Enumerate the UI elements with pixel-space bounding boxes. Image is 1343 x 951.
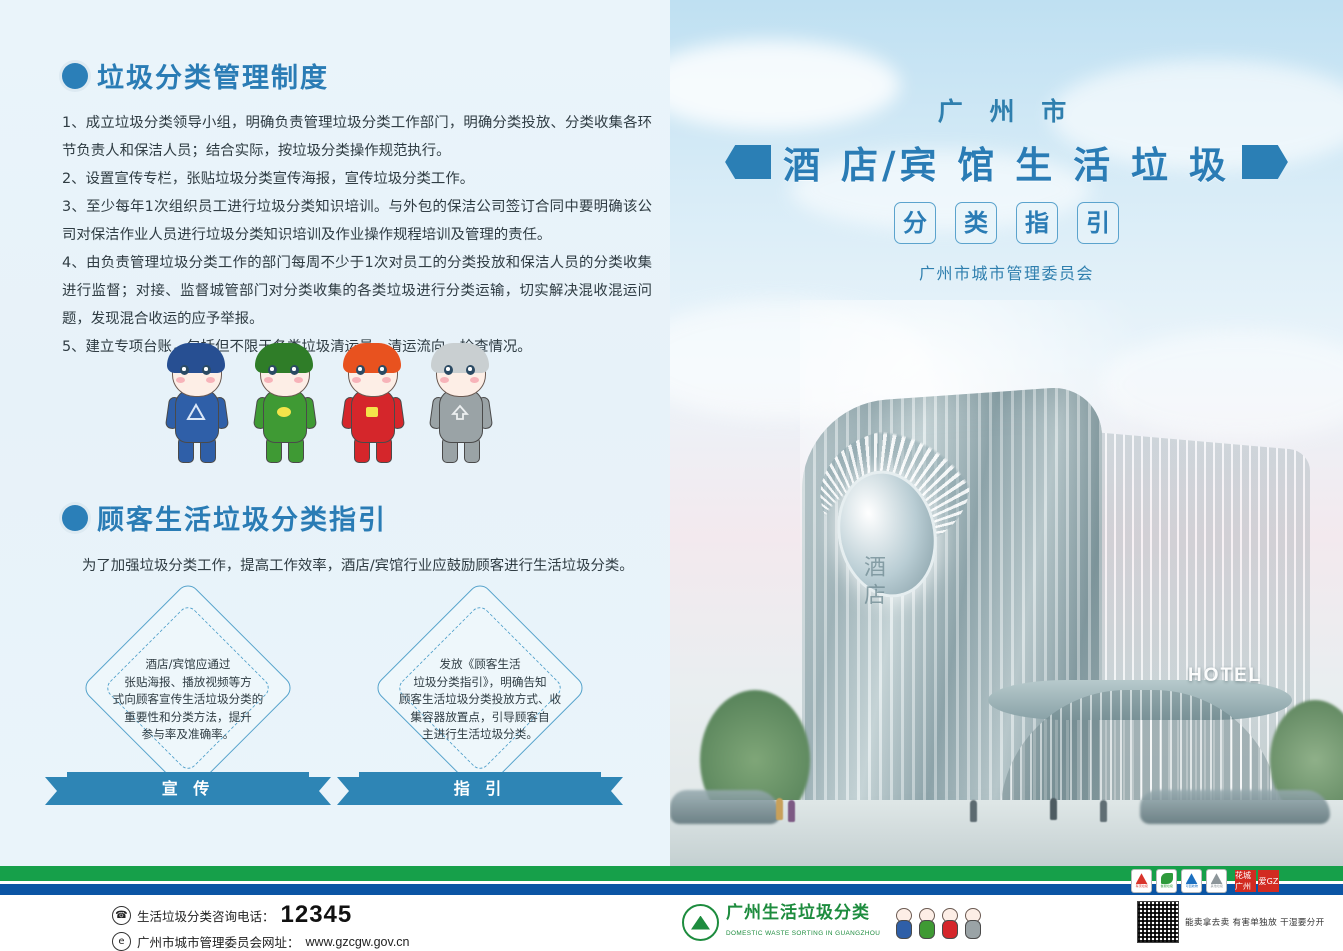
chevron-right-icon xyxy=(1242,145,1288,179)
guidance-card-publicity: 酒店/宾馆应通过 张贴海报、播放视频等方 式向顾客宣传生活垃圾分类的 重要性和分… xyxy=(68,612,308,817)
rule-item: 1、成立垃圾分类领导小组，明确负责管理垃圾分类工作部门，明确分类投放、分类收集各… xyxy=(62,109,652,165)
rule-item: 3、至少每年1次组织员工进行垃圾分类知识培训。与外包的保洁公司签订合同中要明确该… xyxy=(62,193,652,249)
telephone-icon: ☎ xyxy=(112,906,131,925)
section2-title: 顾客生活垃圾分类指引 xyxy=(97,498,387,537)
card-text: 发放《顾客生活 垃圾分类指引》，明确告知 顾客生活垃圾分类投放方式、收 集容器放… xyxy=(360,656,600,744)
guidance-card-guidance: 发放《顾客生活 垃圾分类指引》，明确告知 顾客生活垃圾分类投放方式、收 集容器放… xyxy=(360,612,600,817)
phone-label: 生活垃圾分类咨询电话： xyxy=(137,906,275,925)
building-vertical-sign: 酒店 xyxy=(864,555,888,611)
guangzhou-badges: 花城广州 爱GZ xyxy=(1235,870,1279,892)
mascot-recyclable-blue-mini xyxy=(893,908,913,938)
logo-emblem-icon xyxy=(682,904,719,941)
mascot-other-waste-gray xyxy=(429,345,491,463)
section-customer-guidance: 顾客生活垃圾分类指引 为了加强垃圾分类工作，提高工作效率，酒店/宾馆行业应鼓励顾… xyxy=(62,498,668,579)
mascot-other-waste-gray-mini xyxy=(962,908,982,938)
subtitle-char-box: 类 xyxy=(955,202,997,244)
mascot-food-waste-green xyxy=(253,345,315,463)
waste-category-icons: 有害垃圾 餐厨垃圾 可回收物 其他垃圾 花城广州 爱GZ xyxy=(1131,869,1279,893)
cover-photo-panel: 酒店 HOTEL 广 州 市 酒 店/宾 馆 生 活 垃 圾 分 类 指 引 xyxy=(670,0,1343,866)
pedestrian xyxy=(788,800,795,822)
contact-block: ☎ 生活垃圾分类咨询电话： 12345 e 广州市城市管理委员会网址： www.… xyxy=(112,901,410,951)
logo-title-en: DOMESTIC WASTE SORTING IN GUANGZHOU xyxy=(726,930,880,937)
qr-caption: 能卖拿去卖 有害单独放 干湿要分开 xyxy=(1185,916,1324,928)
gz-badge: 花城广州 xyxy=(1235,870,1256,892)
pedestrian xyxy=(1100,800,1107,822)
hazardous-waste-icon: 有害垃圾 xyxy=(1131,869,1152,893)
logo-title-cn: 广州生活垃圾分类 xyxy=(726,903,870,923)
website-label: 广州市城市管理委员会网址： xyxy=(137,932,300,951)
qr-block: 能卖拿去卖 有害单独放 干湿要分开 xyxy=(1137,901,1324,943)
chevron-left-icon xyxy=(725,145,771,179)
issuing-organization: 广州市城市管理委员会 xyxy=(670,260,1343,284)
section1-body: 1、成立垃圾分类领导小组，明确负责管理垃圾分类工作部门，明确分类投放、分类收集各… xyxy=(62,109,652,361)
recycle-triangle-icon xyxy=(186,403,206,421)
website-line: e 广州市城市管理委员会网址： www.gzcgw.gov.cn xyxy=(112,932,410,951)
filled-circle-bullet-icon xyxy=(62,63,88,89)
phone-line: ☎ 生活垃圾分类咨询电话： 12345 xyxy=(112,901,410,929)
other-arrow-icon xyxy=(450,403,470,421)
mascot-recyclable-blue xyxy=(165,345,227,463)
section1-header: 垃圾分类管理制度 xyxy=(62,56,652,95)
subtitle-char-box: 引 xyxy=(1077,202,1119,244)
section2-intro: 为了加强垃圾分类工作，提高工作效率，酒店/宾馆行业应鼓励顾客进行生活垃圾分类。 xyxy=(82,553,668,579)
car xyxy=(1140,790,1330,824)
card-text: 酒店/宾馆应通过 张贴海报、播放视频等方 式向顾客宣传生活垃圾分类的 重要性和分… xyxy=(68,656,308,744)
phone-number: 12345 xyxy=(281,901,353,929)
mascot-hazardous-red xyxy=(341,345,403,463)
rule-item: 2、设置宣传专栏，张贴垃圾分类宣传海报，宣传垃圾分类工作。 xyxy=(62,165,652,193)
program-logo: 广州生活垃圾分类 DOMESTIC WASTE SORTING IN GUANG… xyxy=(682,904,982,941)
cat-label: 餐厨垃圾 xyxy=(1160,885,1172,888)
cat-label: 有害垃圾 xyxy=(1135,885,1147,888)
podium-hotel-sign: HOTEL xyxy=(1188,665,1262,687)
pedestrian xyxy=(776,798,783,820)
section-management-system: 垃圾分类管理制度 1、成立垃圾分类领导小组，明确负责管理垃圾分类工作部门，明确分… xyxy=(62,56,652,361)
section1-title: 垃圾分类管理制度 xyxy=(97,56,329,95)
mascot-group xyxy=(165,345,491,463)
mascot-hazardous-red-mini xyxy=(939,908,959,938)
brochure-page: 垃圾分类管理制度 1、成立垃圾分类领导小组，明确负责管理垃圾分类工作部门，明确分… xyxy=(0,0,1343,951)
internet-e-icon: e xyxy=(112,932,131,951)
filled-circle-bullet-icon xyxy=(62,505,88,531)
city-label: 广 州 市 xyxy=(670,92,1343,128)
pedestrian xyxy=(970,800,977,822)
subtitle-char-box: 指 xyxy=(1016,202,1058,244)
subtitle-boxes: 分 类 指 引 xyxy=(670,202,1343,244)
ribbon-label: 指 引 xyxy=(337,772,623,805)
left-content-panel: 垃圾分类管理制度 1、成立垃圾分类领导小组，明确负责管理垃圾分类工作部门，明确分… xyxy=(0,0,670,866)
main-title: 酒 店/宾 馆 生 活 垃 圾 xyxy=(783,135,1230,189)
ribbon-label: 宣 传 xyxy=(45,772,331,805)
ribbon-banner: 指 引 xyxy=(337,772,623,805)
recyclable-waste-icon: 可回收物 xyxy=(1181,869,1202,893)
logo-text: 广州生活垃圾分类 DOMESTIC WASTE SORTING IN GUANG… xyxy=(726,905,880,940)
footer-mascot-group xyxy=(893,908,982,938)
gz-badge: 爱GZ xyxy=(1258,870,1279,892)
main-title-row: 酒 店/宾 馆 生 活 垃 圾 xyxy=(670,135,1343,189)
qr-code-icon[interactable] xyxy=(1137,901,1179,943)
cat-label: 可回收物 xyxy=(1185,885,1197,888)
subtitle-char-box: 分 xyxy=(894,202,936,244)
website-url[interactable]: www.gzcgw.gov.cn xyxy=(306,935,410,949)
section2-header: 顾客生活垃圾分类指引 xyxy=(62,498,668,537)
cat-label: 其他垃圾 xyxy=(1210,885,1222,888)
pedestrian xyxy=(1050,798,1057,820)
footer-bar: ☎ 生活垃圾分类咨询电话： 12345 e 广州市城市管理委员会网址： www.… xyxy=(0,895,1343,951)
mascot-food-waste-green-mini xyxy=(916,908,936,938)
other-waste-icon: 其他垃圾 xyxy=(1206,869,1227,893)
car xyxy=(670,790,780,824)
ribbon-banner: 宣 传 xyxy=(45,772,331,805)
hazard-icon xyxy=(362,403,382,421)
food-waste-icon: 餐厨垃圾 xyxy=(1156,869,1177,893)
rule-item: 4、由负责管理垃圾分类工作的部门每周不少于1次对员工的分类投放和保洁人员的分类收… xyxy=(62,249,652,333)
leaf-icon xyxy=(274,403,294,421)
cover-title-block: 广 州 市 酒 店/宾 馆 生 活 垃 圾 分 类 指 引 广州市城市管理委员会 xyxy=(670,92,1343,284)
